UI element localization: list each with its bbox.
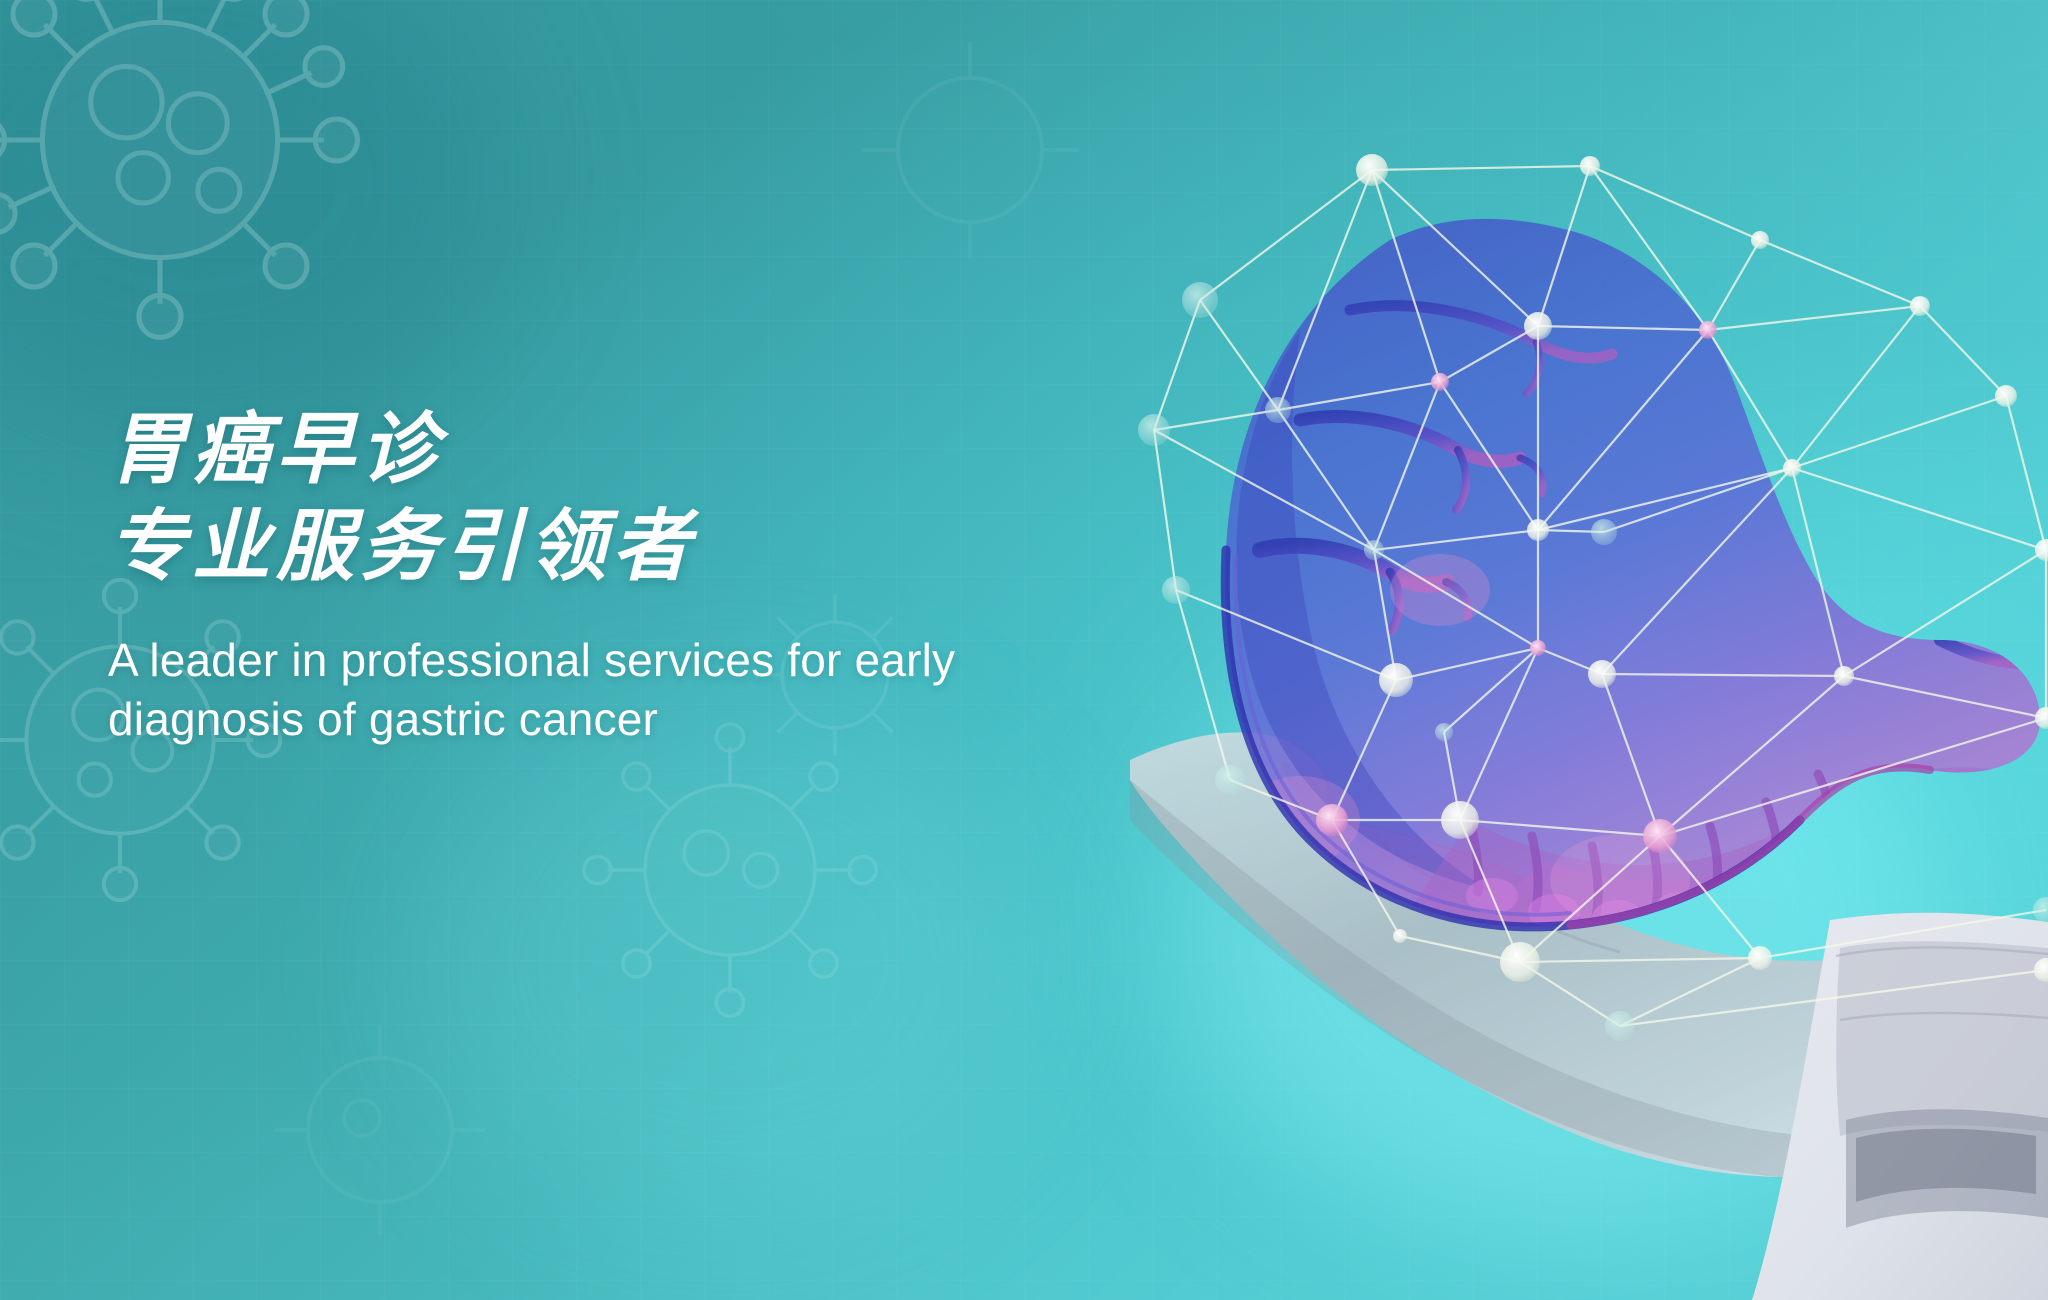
virus-particle-watermark	[820, 0, 1120, 280]
virus-particle-watermark	[0, 0, 370, 330]
headline-line-2: 专业服务引领者	[108, 505, 1148, 588]
stomach-organ-illustration	[1225, 219, 2044, 980]
headline-line-1: 胃癌早诊	[108, 405, 444, 493]
stomach-in-hand-illustration	[1140, 120, 2048, 1300]
subtitle-line-2: diagnosis of gastric cancer	[108, 690, 1118, 749]
virus-particle-watermark	[230, 980, 530, 1260]
hero-copy: 胃癌早诊 专业服务引领者 A leader in professional se…	[108, 408, 1148, 749]
background-glow-center	[420, 700, 1040, 1220]
background-glow-top-left	[0, 0, 500, 440]
hero-subtitle: A leader in professional services for ea…	[108, 631, 1118, 749]
subtitle-line-1: A leader in professional services for ea…	[108, 631, 1118, 690]
hero-banner: 胃癌早诊 专业服务引领者 A leader in professional se…	[0, 0, 2048, 1300]
page-title: 胃癌早诊 专业服务引领者	[108, 408, 1148, 589]
